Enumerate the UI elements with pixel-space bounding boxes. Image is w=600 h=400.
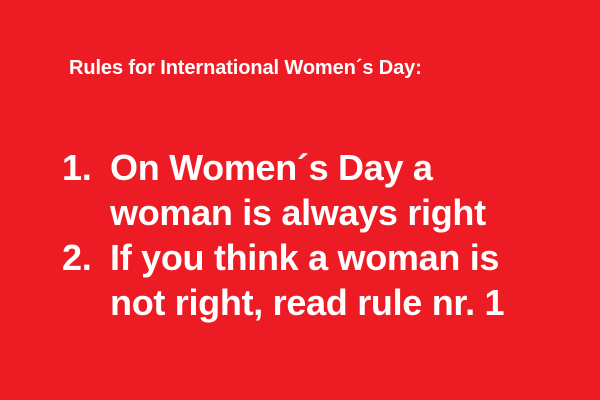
list-item-marker: 1. <box>62 145 110 190</box>
list-item-text: If you think a woman is not right, read … <box>110 235 548 325</box>
list-item-marker: 2. <box>62 235 110 280</box>
page-title: Rules for International Women´s Day: <box>69 56 422 80</box>
poster-canvas: Rules for International Women´s Day: 1. … <box>0 0 600 400</box>
rules-list: 1. On Women´s Day a woman is always righ… <box>62 145 562 325</box>
list-item: 2. If you think a woman is not right, re… <box>62 235 562 325</box>
list-item: 1. On Women´s Day a woman is always righ… <box>62 145 562 235</box>
list-item-text: On Women´s Day a woman is always right <box>110 145 548 235</box>
